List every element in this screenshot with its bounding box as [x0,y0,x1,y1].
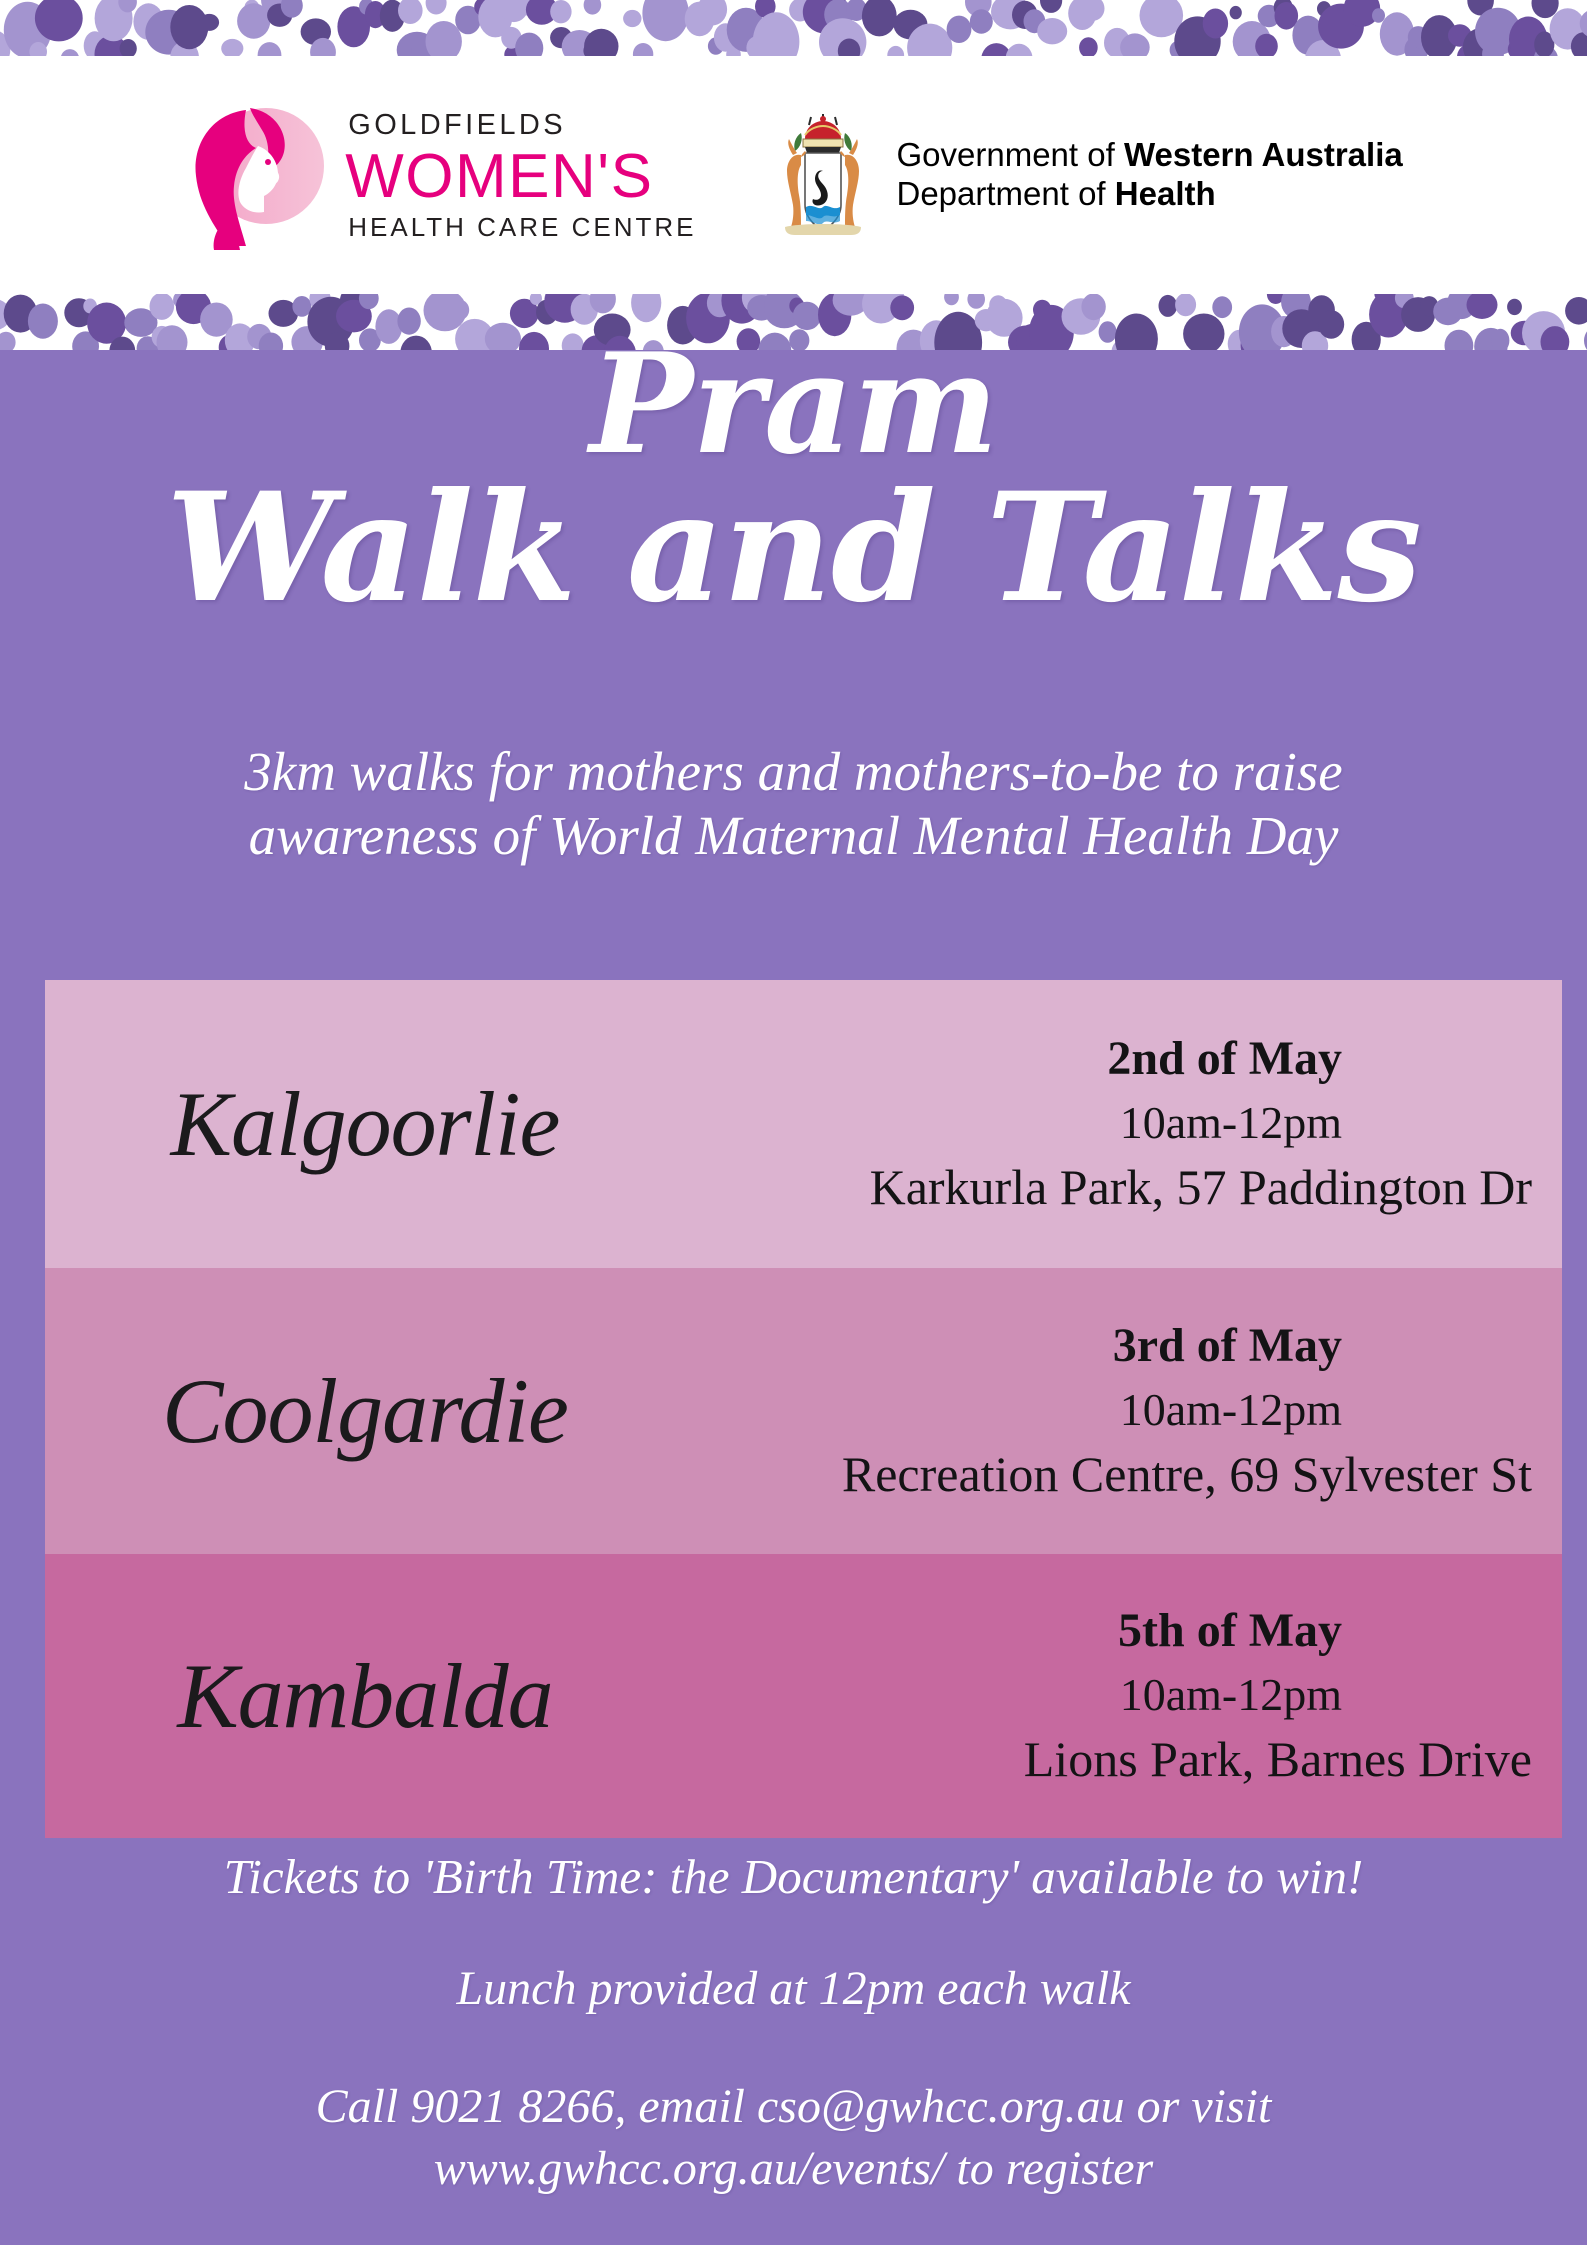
gwhcc-logo: GOLDFIELDS WOMEN'S HEALTH CARE CENTRE [184,100,696,250]
location-place: Karkurla Park, 57 Paddington Dr [685,1157,1532,1218]
tickets-note: Tickets to 'Birth Time: the Documentary'… [0,1848,1587,1905]
contact-note: Call 9021 8266, email cso@gwhcc.org.au o… [0,2076,1587,2201]
subtitle-line-1: 3km walks for mothers and mothers-to-be … [120,740,1467,804]
location-time: 10am-12pm [685,1095,1532,1151]
poster-footer: Tickets to 'Birth Time: the Documentary'… [0,1848,1587,2201]
poster-subtitle: 3km walks for mothers and mothers-to-be … [0,740,1587,869]
wa-coat-of-arms-icon [771,109,875,241]
location-place: Lions Park, Barnes Drive [685,1729,1532,1790]
location-details: 2nd of May 10am-12pm Karkurla Park, 57 P… [685,1030,1562,1218]
lunch-note: Lunch provided at 12pm each walk [0,1961,1587,2016]
location-name: Coolgardie [45,1358,685,1464]
title-line-1: Pram [0,336,1587,471]
subtitle-line-2: awareness of World Maternal Mental Healt… [120,804,1467,868]
dot-pattern-top [0,0,1587,56]
location-details: 3rd of May 10am-12pm Recreation Centre, … [685,1317,1562,1505]
location-row-kalgoorlie: Kalgoorlie 2nd of May 10am-12pm Karkurla… [45,980,1562,1268]
location-date: 5th of May [685,1602,1532,1661]
location-place: Recreation Centre, 69 Sylvester St [685,1444,1532,1505]
location-name: Kambalda [45,1643,685,1749]
header-band: GOLDFIELDS WOMEN'S HEALTH CARE CENTRE [0,0,1587,350]
location-time: 10am-12pm [685,1382,1532,1438]
location-name: Kalgoorlie [45,1071,685,1177]
title-line-2: Walk and Talks [0,475,1587,622]
woman-profile-icon [184,100,334,250]
contact-line-2: www.gwhcc.org.au/events/ to register [0,2138,1587,2200]
location-row-coolgardie: Coolgardie 3rd of May 10am-12pm Recreati… [45,1268,1562,1554]
wa-logo-line1: Government of Western Australia [897,136,1403,175]
gwhcc-line2: WOMEN'S [345,146,696,208]
location-row-kambalda: Kambalda 5th of May 10am-12pm Lions Park… [45,1554,1562,1838]
location-date: 3rd of May [685,1317,1532,1376]
location-time: 10am-12pm [685,1667,1532,1723]
location-details: 5th of May 10am-12pm Lions Park, Barnes … [685,1602,1562,1790]
wa-logo-line2: Department of Health [897,175,1403,214]
locations-panel: Kalgoorlie 2nd of May 10am-12pm Karkurla… [45,980,1562,1838]
contact-line-1: Call 9021 8266, email cso@gwhcc.org.au o… [0,2076,1587,2138]
location-date: 2nd of May [685,1030,1532,1089]
gwhcc-line1: GOLDFIELDS [348,111,696,140]
gwhcc-line3: HEALTH CARE CENTRE [348,214,696,240]
logo-row: GOLDFIELDS WOMEN'S HEALTH CARE CENTRE [0,56,1587,294]
wa-government-logo: Government of Western Australia Departme… [771,109,1403,241]
poster-title: Pram Walk and Talks [0,350,1587,622]
